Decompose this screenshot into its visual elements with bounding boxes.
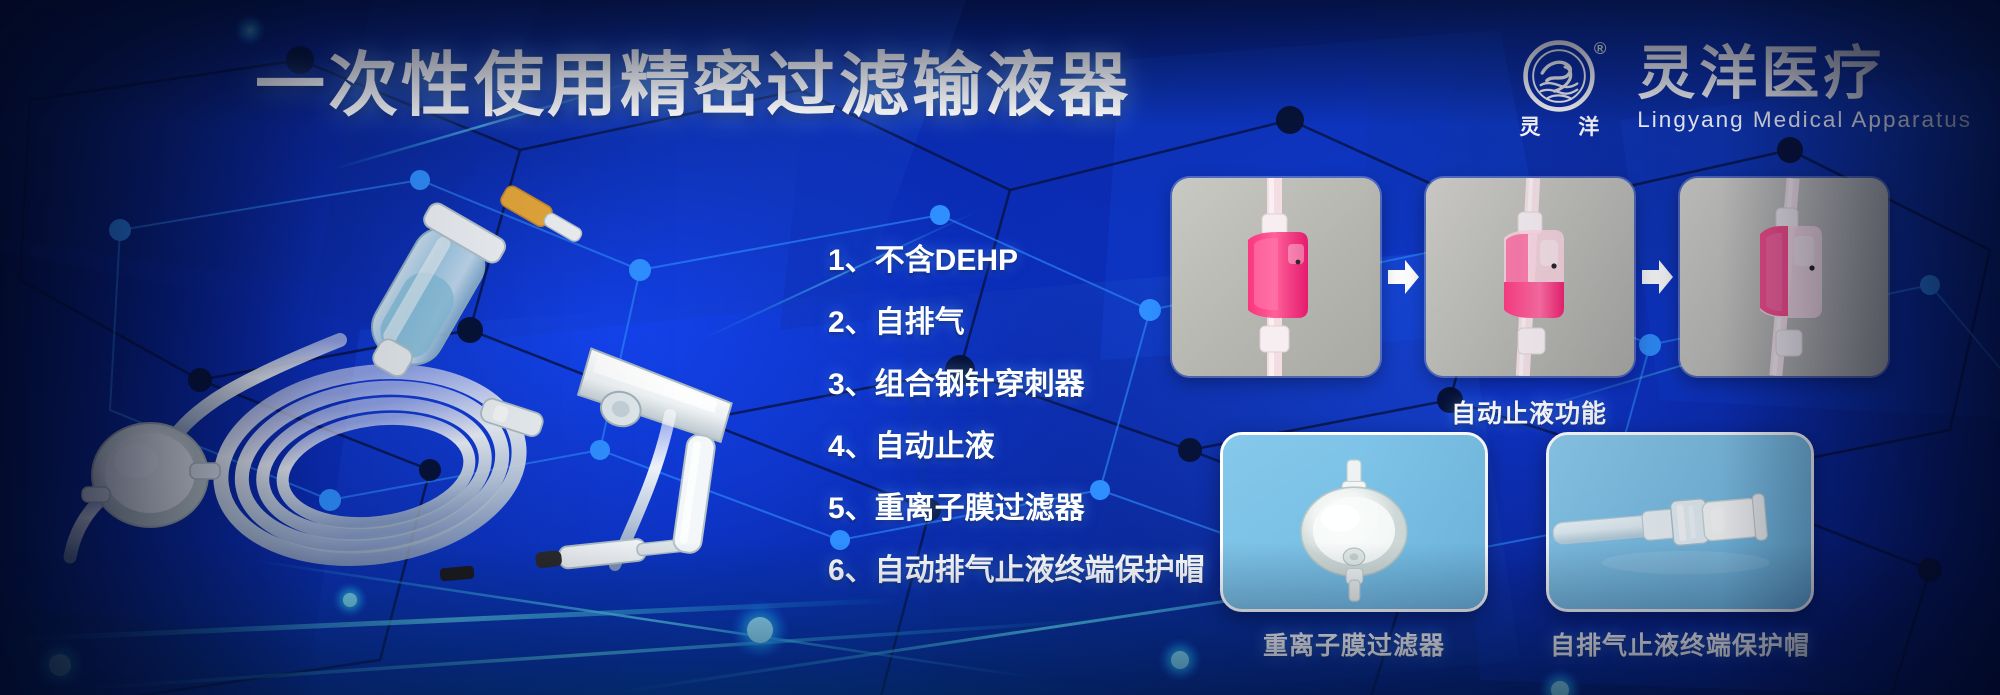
terminal-protective-cap-panel — [1546, 432, 1814, 612]
registered-mark: ® — [1594, 40, 1607, 57]
company-name-en: Lingyang Medical Apparatus — [1637, 107, 1972, 133]
terminal-protective-cap-caption: 自排气止液终端保护帽 — [1546, 626, 1814, 662]
right-arrow-icon — [1640, 257, 1674, 297]
brand-logo: ® 灵 洋 灵洋医疗 Lingyang Medical Apparatus — [1503, 38, 1972, 139]
lingyang-circular-emblem-icon — [1521, 38, 1597, 114]
logo-emblem: ® 灵 洋 — [1503, 38, 1615, 139]
auto-stop-demo-row — [1172, 178, 1888, 376]
drip-chamber-part — [348, 200, 508, 392]
feature-item-4: 4、自动止液 — [828, 416, 1205, 478]
arrow-gap-1 — [1380, 257, 1426, 297]
auto-stop-step-3-panel — [1680, 178, 1888, 376]
feature-item-2: 2、自排气 — [828, 292, 1205, 354]
product-photo — [40, 165, 800, 585]
feature-item-3: 3、组合钢针穿刺器 — [828, 354, 1205, 416]
component-panel-row — [1220, 432, 1814, 612]
heavy-ion-membrane-filter-caption: 重离子膜过滤器 — [1220, 626, 1488, 662]
feature-item-1: 1、不含DEHP — [828, 230, 1205, 292]
heavy-ion-membrane-filter-panel — [1220, 432, 1488, 612]
arrow-gap-2 — [1634, 257, 1680, 297]
page-title: 一次性使用精密过滤输液器 — [255, 50, 1131, 120]
logo-emblem-subtitle: 灵 洋 — [1503, 117, 1615, 139]
right-arrow-icon — [1386, 257, 1420, 297]
company-name-cn: 灵洋医疗 — [1637, 44, 1972, 103]
auto-stop-step-2-panel — [1426, 178, 1634, 376]
feature-item-6: 6、自动排气止液终端保护帽 — [828, 540, 1205, 602]
logo-text-block: 灵洋医疗 Lingyang Medical Apparatus — [1637, 44, 1972, 132]
component-caption-row: 重离子膜过滤器 自排气止液终端保护帽 — [1220, 626, 1814, 662]
membrane-filter-part — [82, 423, 220, 527]
auto-stop-demo-caption: 自动止液功能 — [1172, 394, 1886, 430]
product-banner: 一次性使用精密过滤输液器 ® 灵 洋 灵洋医疗 Lingyang Medical… — [0, 0, 2000, 695]
feature-list: 1、不含DEHP 2、自排气 3、组合钢针穿刺器 4、自动止液 5、重离子膜过滤… — [828, 230, 1205, 602]
feature-item-5: 5、重离子膜过滤器 — [828, 478, 1205, 540]
